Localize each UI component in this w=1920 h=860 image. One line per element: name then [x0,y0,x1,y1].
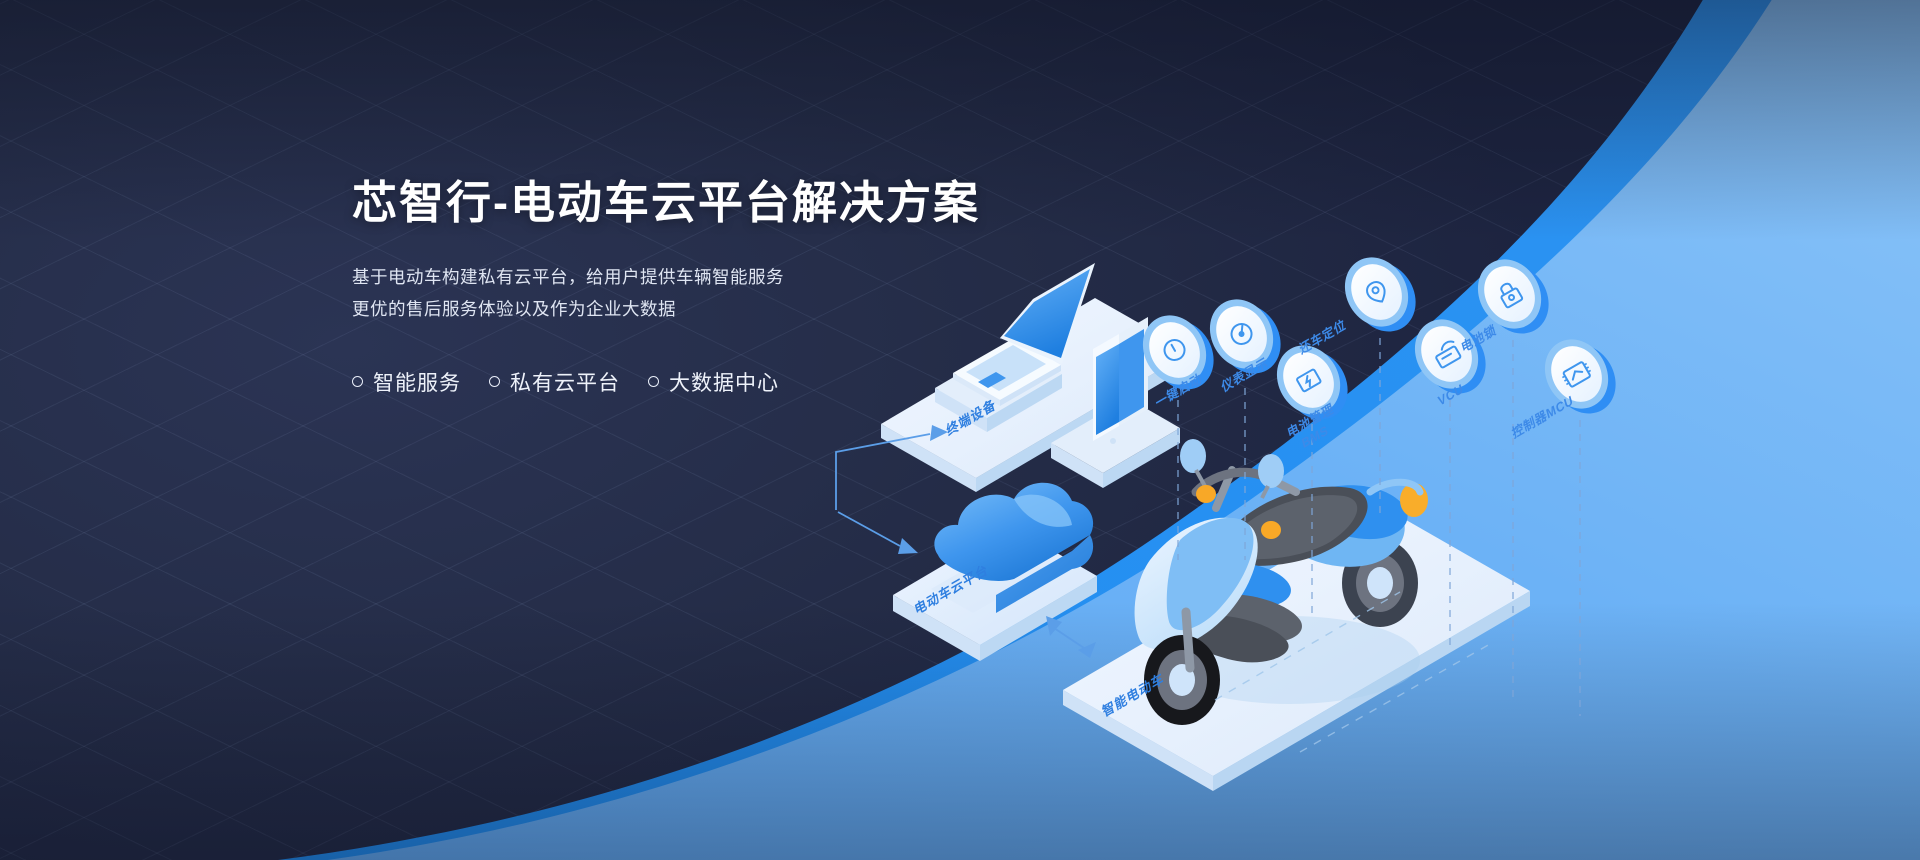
feature-label: 大数据中心 [669,367,779,397]
hero-subcopy-line1: 基于电动车构建私有云平台，给用户提供车辆智能服务 [352,267,784,287]
hero-copy: 芯智行-电动车云平台解决方案 基于电动车构建私有云平台，给用户提供车辆智能服务 … [352,178,992,397]
feature-label: 私有云平台 [510,367,620,397]
hero-banner: 终端设备 电动车云平台 智能电动车 一键启动 仪表显示 电池管理 BMS 还车定… [0,0,1920,860]
hero-subcopy: 基于电动车构建私有云平台，给用户提供车辆智能服务 更优的售后服务体验以及作为企业… [352,262,992,324]
circle-bullet-icon [352,376,363,387]
feature-item-private-cloud[interactable]: 私有云平台 [489,367,620,397]
feature-label: 智能服务 [373,367,461,397]
circle-bullet-icon [648,376,659,387]
circle-bullet-icon [489,376,500,387]
feature-list: 智能服务 私有云平台 大数据中心 [352,367,992,397]
page-title: 芯智行-电动车云平台解决方案 [352,178,992,228]
feature-item-smart-service[interactable]: 智能服务 [352,367,461,397]
hero-subcopy-line2: 更优的售后服务体验以及作为企业大数据 [352,299,676,319]
feature-item-big-data-center[interactable]: 大数据中心 [648,367,779,397]
